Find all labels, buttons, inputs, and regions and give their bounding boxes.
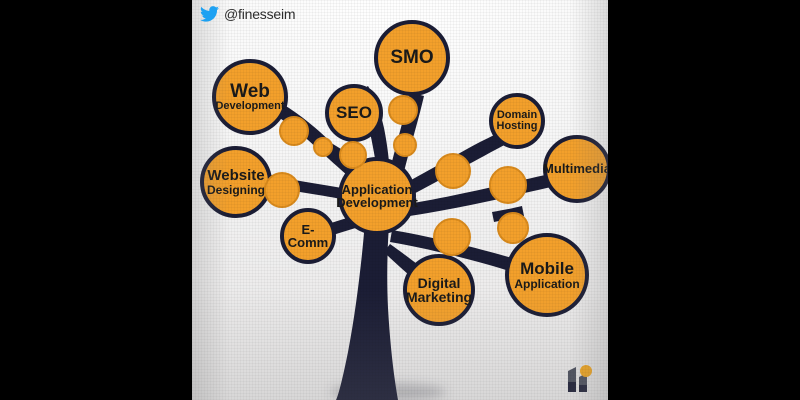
bubble-mobile-application-label-line1: Mobile (520, 260, 574, 277)
twitter-handle-text: @finesseim (224, 6, 295, 22)
bubble-seo-label-line1: SEO (336, 104, 372, 121)
bubble-multimedia[interactable]: Multimedia (543, 135, 608, 203)
bubble-digital-marketing-label-line2: Marketing (406, 290, 472, 304)
bubble-website-designing-label-line2: Designing (207, 184, 265, 196)
bubble-multimedia-label-line1: Multimedia (543, 162, 608, 175)
letterbox-right (608, 0, 800, 400)
logo-bar-left-dark (568, 382, 576, 392)
bubble-e-comm-label-line1: E-Comm (284, 223, 332, 250)
bubble-application-development-label-line2: Development (336, 196, 418, 209)
bubble-plain-8[interactable] (489, 166, 527, 204)
screenshot-stage: SMOWebDevelopmentSEODomainHostingWebsite… (0, 0, 800, 400)
logo-dot-icon (580, 365, 592, 377)
bubble-smo-label-line1: SMO (390, 48, 433, 67)
bubble-mobile-application[interactable]: MobileApplication (505, 233, 589, 317)
bubble-plain-3[interactable] (339, 141, 367, 169)
bubble-digital-marketing-label-line1: Digital (418, 276, 461, 290)
bubble-web-development-label-line1: Web (230, 82, 270, 101)
letterbox-left (0, 0, 192, 400)
bubble-domain-hosting[interactable]: DomainHosting (489, 93, 545, 149)
bubble-digital-marketing[interactable]: DigitalMarketing (403, 254, 475, 326)
bubble-plain-4[interactable] (388, 95, 418, 125)
bubble-plain-2[interactable] (313, 137, 333, 157)
bubble-application-development-label-line1: Application (342, 183, 413, 196)
bubble-e-comm[interactable]: E-Comm (280, 208, 336, 264)
twitter-bird-icon (200, 6, 219, 22)
artwork-canvas: SMOWebDevelopmentSEODomainHostingWebsite… (192, 0, 608, 400)
twitter-watermark: @finesseim (200, 6, 295, 22)
bubble-smo[interactable]: SMO (374, 20, 450, 96)
bubble-layer: SMOWebDevelopmentSEODomainHostingWebsite… (192, 0, 608, 400)
bubble-seo[interactable]: SEO (325, 84, 383, 142)
bubble-website-designing[interactable]: WebsiteDesigning (200, 146, 272, 218)
bubble-website-designing-label-line1: Website (207, 168, 264, 183)
bubble-domain-hosting-label-line2: Hosting (497, 121, 538, 132)
bubble-plain-9[interactable] (433, 218, 471, 256)
bubble-web-development[interactable]: WebDevelopment (212, 59, 288, 135)
bubble-plain-7[interactable] (264, 172, 300, 208)
bubble-plain-5[interactable] (393, 133, 417, 157)
bubble-plain-10[interactable] (497, 212, 529, 244)
bubble-mobile-application-label-line2: Application (514, 278, 579, 290)
logo-bar-right-dark (579, 385, 587, 392)
finesse-logo (562, 358, 600, 396)
bubble-web-development-label-line2: Development (215, 101, 284, 112)
bubble-plain-6[interactable] (435, 153, 471, 189)
bubble-plain-1[interactable] (279, 116, 309, 146)
